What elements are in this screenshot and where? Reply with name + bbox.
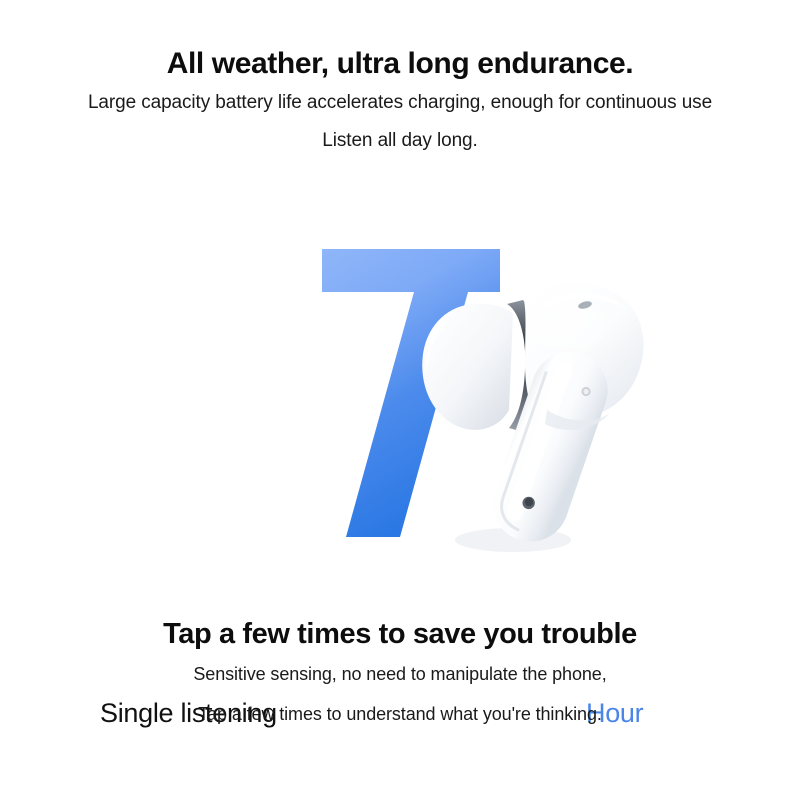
hero-visual: Single listening Hour: [0, 200, 800, 600]
earbud-illustration: [395, 260, 660, 570]
top-subline-1: Large capacity battery life accelerates …: [0, 84, 800, 122]
top-subline-2: Listen all day long.: [0, 122, 800, 160]
bottom-subline-1: Sensitive sensing, no need to manipulate…: [0, 654, 800, 694]
bottom-headline: Tap a few times to save you trouble: [0, 614, 800, 654]
top-headline: All weather, ultra long endurance.: [0, 44, 800, 84]
product-feature-banner: All weather, ultra long endurance. Large…: [0, 0, 800, 800]
bottom-copy-block: Tap a few times to save you trouble Sens…: [0, 614, 800, 734]
top-copy-block: All weather, ultra long endurance. Large…: [0, 44, 800, 160]
bottom-subline-2: Tap a few times to understand what you'r…: [0, 694, 800, 734]
